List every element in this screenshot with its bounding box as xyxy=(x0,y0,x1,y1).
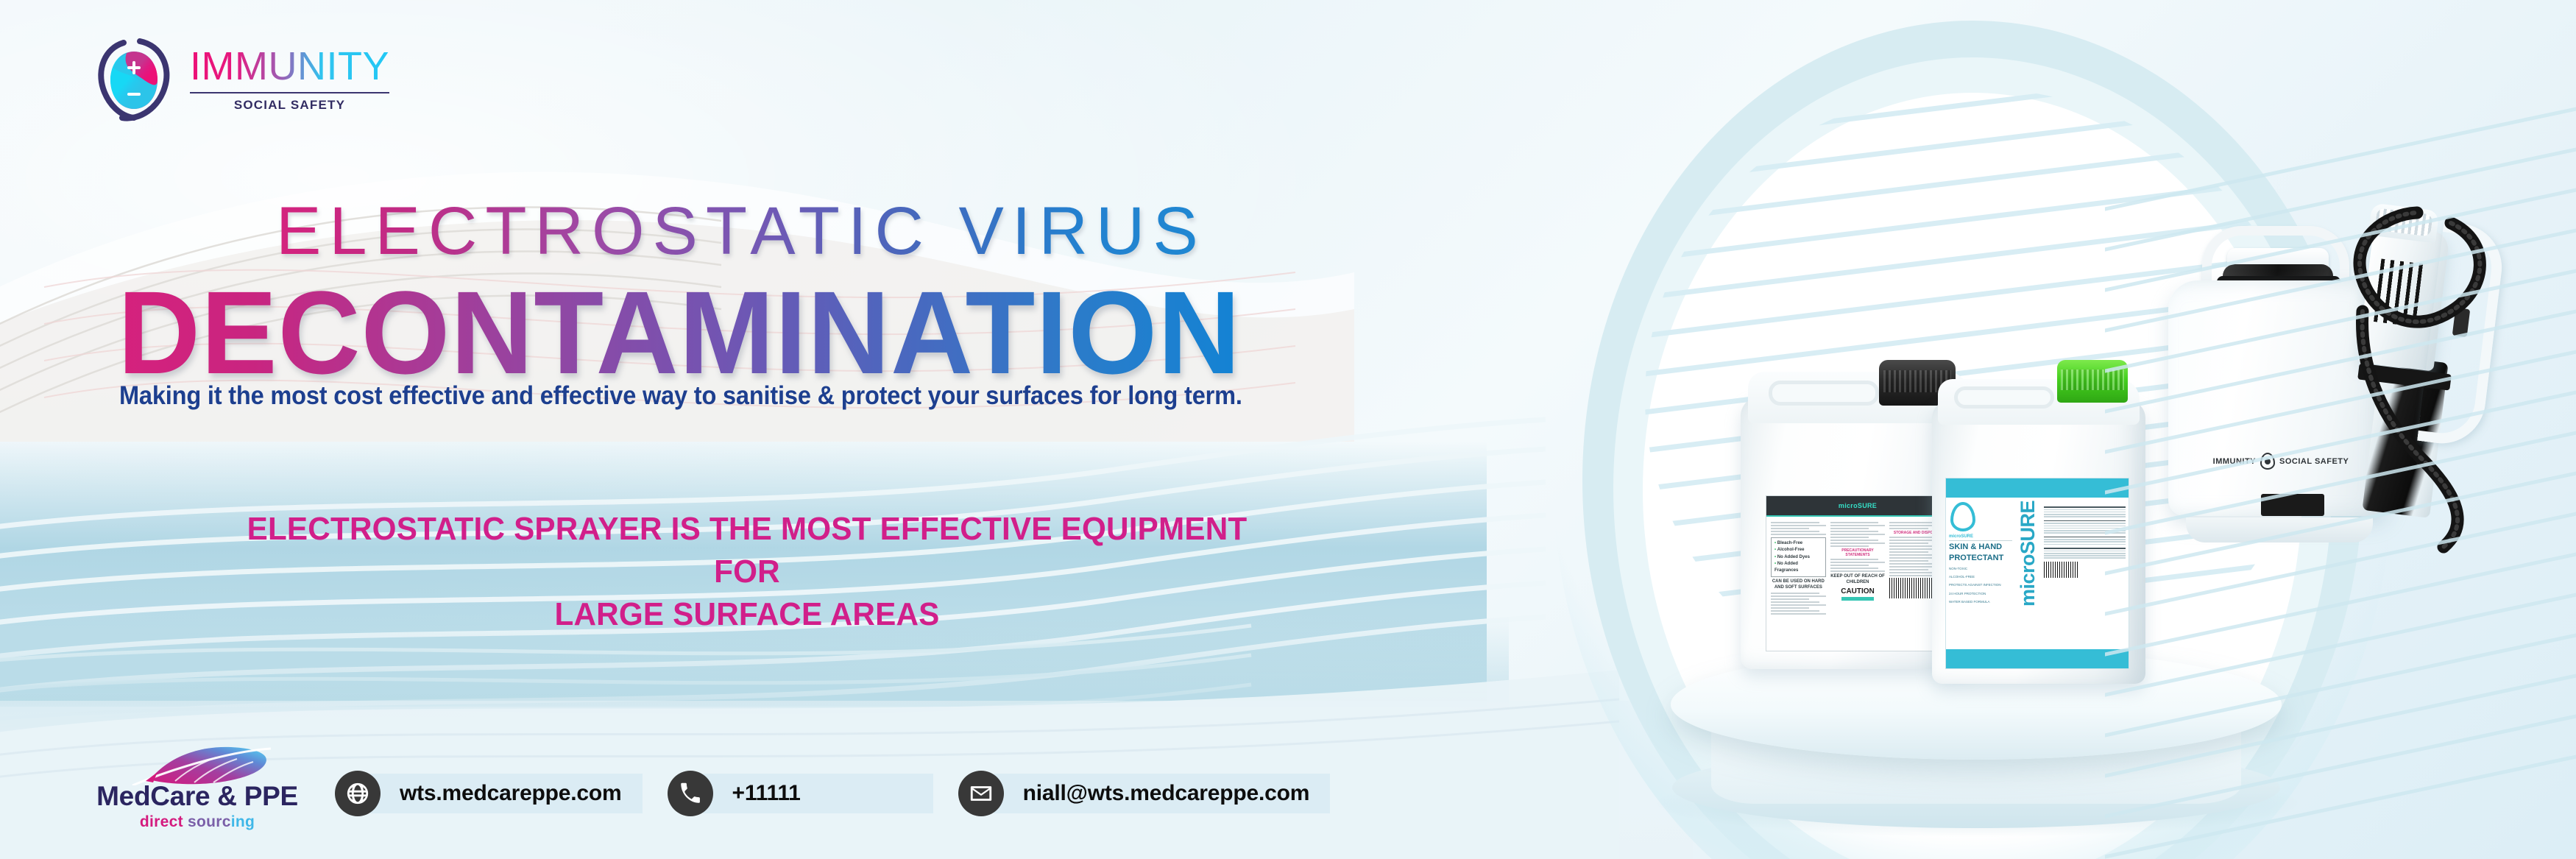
contact-website[interactable]: wts.medcareppe.com xyxy=(335,771,643,816)
medcare-tagline: direct sourcing xyxy=(87,813,308,831)
medcare-name: MedCare & PPE xyxy=(87,782,308,811)
globe-icon xyxy=(335,771,381,816)
subheadline-line-1: ELECTROSTATIC SPRAYER IS THE MOST EFFECT… xyxy=(247,511,1248,590)
footer-bar: MedCare & PPE direct sourcing wts.medcar… xyxy=(0,712,1693,859)
medcare-tag-part-2: sourc xyxy=(183,813,231,830)
banner-content: IMMUNITY SOCIAL SAFETY ELECTROSTATIC VIR… xyxy=(0,0,2576,859)
medcare-tag-part-1: direct xyxy=(140,813,183,830)
immunity-logo[interactable]: IMMUNITY SOCIAL SAFETY xyxy=(94,35,389,124)
headline-secondary: DECONTAMINATION xyxy=(118,265,1241,400)
phone-label[interactable]: +11111 xyxy=(703,774,933,813)
logo-name: IMMUNITY xyxy=(190,46,389,86)
contact-email[interactable]: niall@wts.medcareppe.com xyxy=(958,771,1331,816)
phone-icon xyxy=(668,771,713,816)
hero-subheadline: ELECTROSTATIC SPRAYER IS THE MOST EFFECT… xyxy=(231,508,1263,636)
hero-tagline: Making it the most cost effective and ef… xyxy=(119,381,1242,411)
feather-icon xyxy=(87,744,308,785)
immunity-teardrop-icon xyxy=(94,35,174,124)
medcare-logo[interactable]: MedCare & PPE direct sourcing xyxy=(87,744,308,831)
contact-list: wts.medcareppe.com +11111 xyxy=(335,771,1355,816)
medcare-tag-part-3: ing xyxy=(231,813,255,830)
logo-divider xyxy=(190,92,389,93)
subheadline-line-2: LARGE SURFACE AREAS xyxy=(231,593,1263,636)
promotional-banner: microSURE • Bleach-Free • Alcohol-Free •… xyxy=(0,0,2576,859)
logo-tagline: SOCIAL SAFETY xyxy=(234,98,345,113)
contact-phone[interactable]: +11111 xyxy=(668,771,933,816)
email-label[interactable]: niall@wts.medcareppe.com xyxy=(994,774,1331,813)
headline-primary: ELECTROSTATIC VIRUS xyxy=(276,193,1206,270)
immunity-wordmark: IMMUNITY SOCIAL SAFETY xyxy=(190,46,389,113)
envelope-icon xyxy=(958,771,1004,816)
website-label[interactable]: wts.medcareppe.com xyxy=(370,774,643,813)
